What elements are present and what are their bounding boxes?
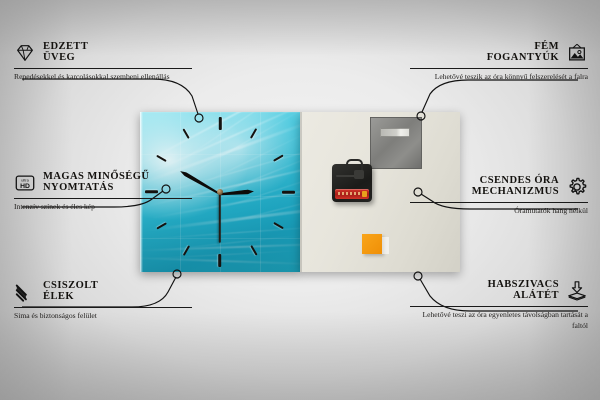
- callout-title-line2: FOGANTYÚK: [487, 53, 559, 64]
- callout-description: Lehetővé teszi az óra egyenletes távolsá…: [410, 310, 588, 332]
- clock-tick: [182, 128, 190, 139]
- ultra-hd-icon: ultraHD: [14, 172, 36, 194]
- callout-title-line2: NYOMTATÁS: [43, 183, 114, 194]
- callout-title: CSENDES ÓRA MECHANIZMUS: [472, 176, 559, 198]
- callout-foam-pad: HABSZIVACS ALÁTÉT Lehetővé teszi az óra …: [410, 280, 588, 332]
- foam-pad: [362, 234, 382, 254]
- mechanism-detail-2: [354, 170, 364, 179]
- callout-header: FÉM FOGANTYÚK: [410, 42, 588, 64]
- clock-tick: [250, 128, 258, 139]
- callout-rule: [410, 68, 588, 69]
- callout-title: CSISZOLT ÉLEK: [43, 281, 98, 303]
- clock-mechanism: [332, 164, 372, 202]
- foam-pad-highlight: [382, 237, 389, 254]
- panel-divider: [300, 112, 302, 272]
- callout-rule: [410, 306, 588, 307]
- battery-label: [338, 192, 360, 195]
- clock-tick: [273, 222, 284, 230]
- callout-silent-mechanism: CSENDES ÓRA MECHANIZMUS Óramutatók hang …: [410, 176, 588, 217]
- callout-title-line2: ÜVEG: [43, 53, 75, 64]
- clock-tick: [218, 254, 221, 267]
- clock-tick: [156, 154, 167, 162]
- callout-description: Repedésekkel és karcolásokkal szembeni e…: [14, 72, 192, 83]
- battery-terminal: [362, 191, 367, 197]
- callout-title-line2: MECHANIZMUS: [472, 187, 559, 198]
- callout-polished-edges: CSISZOLT ÉLEK Sima és biztonságos felüle…: [14, 281, 192, 322]
- polished-edges-icon: [14, 281, 36, 303]
- product-infographic: EDZETT ÜVEG Repedésekkel és karcolásokka…: [0, 0, 600, 400]
- callout-rule: [14, 68, 192, 69]
- callout-tempered-glass: EDZETT ÜVEG Repedésekkel és karcolásokka…: [14, 42, 192, 83]
- callout-header: CSISZOLT ÉLEK: [14, 281, 192, 303]
- callout-metal-hangers: FÉM FOGANTYÚK Lehetővé teszik az óra kön…: [410, 42, 588, 83]
- callout-title-line2: ÉLEK: [43, 292, 74, 303]
- callout-title: MAGAS MINŐSÉGŰ NYOMTATÁS: [43, 172, 149, 194]
- clock-pivot: [217, 189, 223, 195]
- callout-title: HABSZIVACS ALÁTÉT: [488, 280, 559, 302]
- callout-description: Óramutatók hang nélkül: [410, 206, 588, 217]
- clock-tick: [250, 245, 258, 256]
- diamond-icon: [14, 42, 36, 64]
- callout-title-line2: ALÁTÉT: [513, 291, 559, 302]
- clock-tick: [182, 245, 190, 256]
- clock-second-hand: [219, 193, 221, 243]
- mechanism-loop: [346, 159, 363, 170]
- battery: [335, 189, 369, 199]
- picture-hanger-icon: [566, 42, 588, 64]
- clock-tick: [219, 117, 222, 130]
- metal-hanger-bracket: [370, 117, 422, 169]
- hanger-slot: [380, 128, 410, 137]
- callout-header: CSENDES ÓRA MECHANIZMUS: [410, 176, 588, 198]
- callout-header: ultraHD MAGAS MINŐSÉGŰ NYOMTATÁS: [14, 172, 192, 194]
- clock-hour-hand: [220, 189, 254, 197]
- callout-high-quality-print: ultraHD MAGAS MINŐSÉGŰ NYOMTATÁS Intenzí…: [14, 172, 192, 213]
- gear-icon: [566, 176, 588, 198]
- clock-tick: [156, 222, 167, 230]
- callout-rule: [410, 202, 588, 203]
- callout-header: EDZETT ÜVEG: [14, 42, 192, 64]
- callout-title: FÉM FOGANTYÚK: [487, 42, 559, 64]
- callout-description: Sima és biztonságos felület: [14, 311, 192, 322]
- svg-text:HD: HD: [20, 183, 30, 190]
- callout-rule: [14, 198, 192, 199]
- clock-tick: [282, 191, 295, 194]
- callout-description: Intenzív színek és éles kép: [14, 202, 192, 213]
- callout-header: HABSZIVACS ALÁTÉT: [410, 280, 588, 302]
- foam-pad-icon: [566, 280, 588, 302]
- clock-tick: [273, 154, 284, 162]
- callout-rule: [14, 307, 192, 308]
- callout-description: Lehetővé teszik az óra könnyű felszerelé…: [410, 72, 588, 83]
- callout-title: EDZETT ÜVEG: [43, 42, 88, 64]
